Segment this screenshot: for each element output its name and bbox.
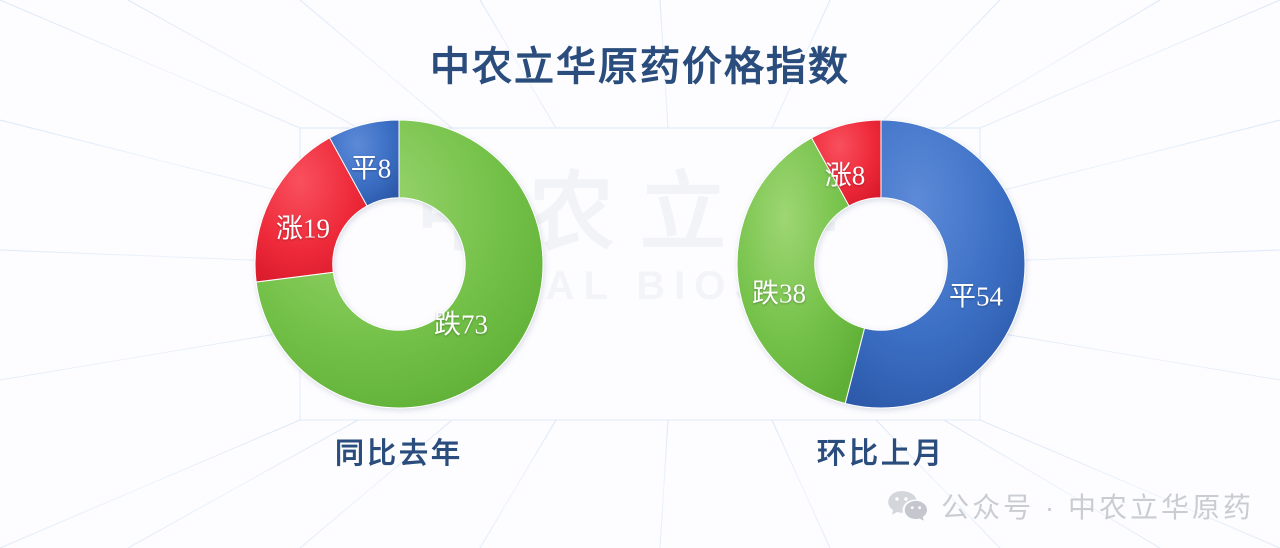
donut-wrap-year-over-year: 跌73涨19平8 <box>253 118 545 410</box>
charts-row: 跌73涨19平8 同比去年 <box>0 118 1280 472</box>
donut-chart-year-over-year <box>253 118 545 410</box>
wechat-account-label: 公众号 · 中农立华原药 <box>941 486 1254 526</box>
page-title: 中农立华原药价格指数 <box>0 34 1280 92</box>
chart-year-over-year: 跌73涨19平8 同比去年 <box>253 118 545 472</box>
donut-wrap-month-over-month: 平54跌38涨8 <box>735 118 1027 410</box>
chart-caption-month-over-month: 环比上月 <box>817 430 945 472</box>
donut-chart-month-over-month <box>735 118 1027 410</box>
donut-slices-year-over-year <box>255 120 543 408</box>
chart-caption-year-over-year: 同比去年 <box>335 430 463 472</box>
wechat-icon <box>886 489 928 523</box>
wechat-account-badge: 公众号 · 中农立华原药 <box>886 486 1254 526</box>
chart-month-over-month: 平54跌38涨8 环比上月 <box>735 118 1027 472</box>
donut-slices-month-over-month <box>737 120 1025 408</box>
slide-canvas: 中农立华 SAL BIOS 中农立华原药价格指数 <box>0 0 1280 548</box>
